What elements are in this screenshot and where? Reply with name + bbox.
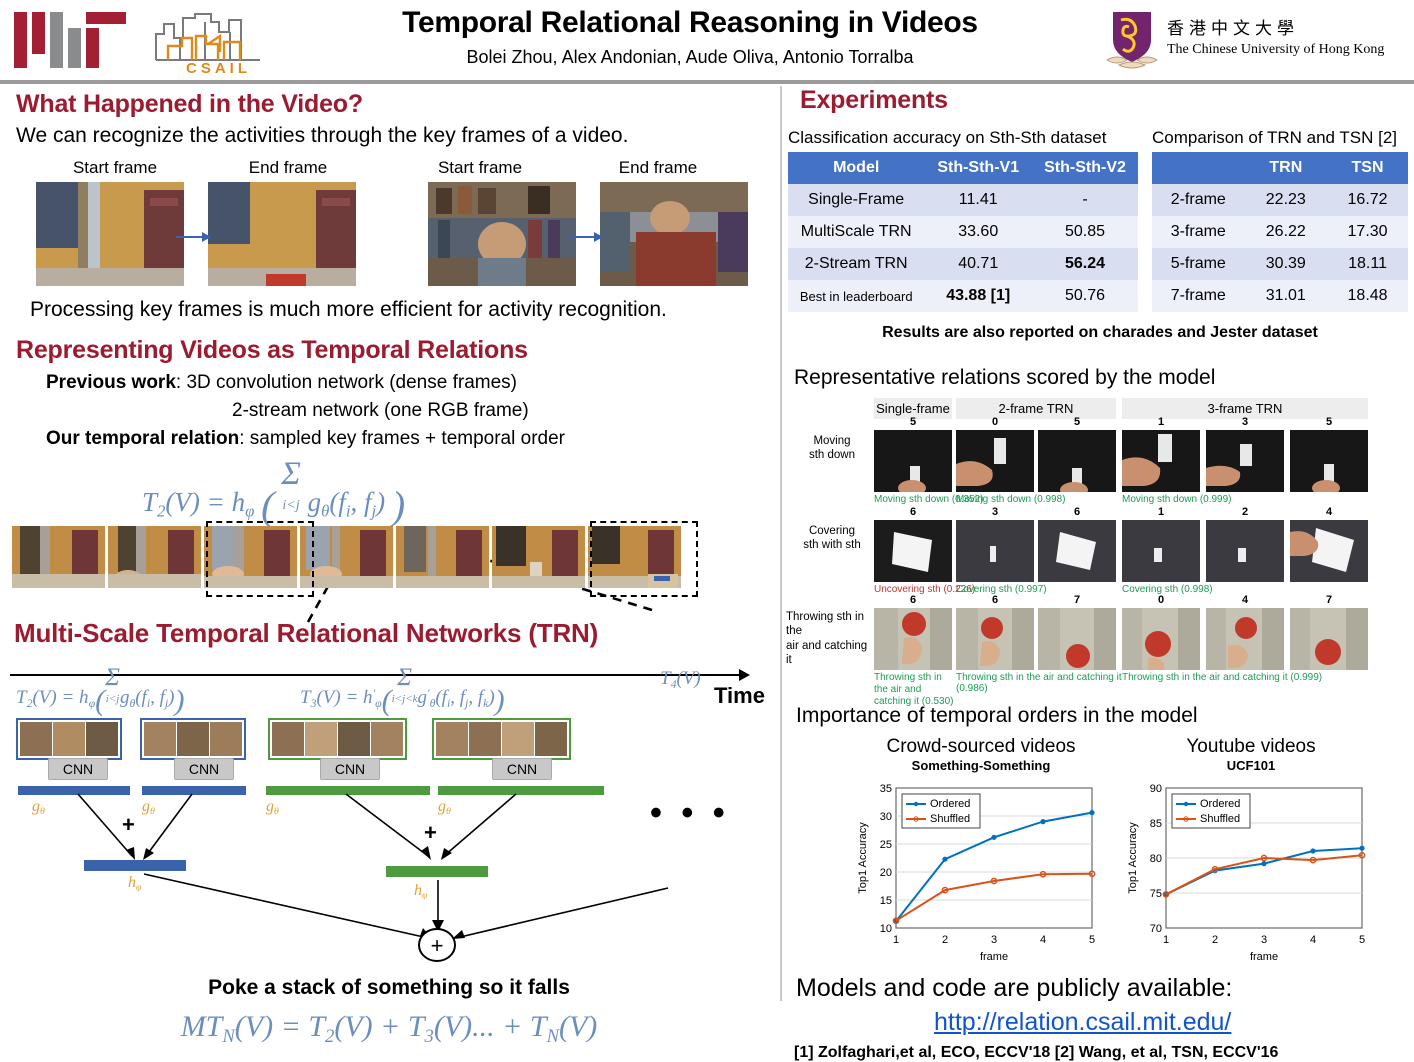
video-thumb-end-1: [208, 182, 356, 286]
chart2-legend-ordered: Ordered: [1200, 798, 1240, 810]
cell-frames: 2-frame: [1152, 184, 1245, 216]
svg-text:15: 15: [880, 895, 892, 907]
cell-v1: 11.41: [924, 184, 1032, 216]
cell-trn: 31.01: [1245, 280, 1328, 312]
relation-image: [956, 430, 1034, 492]
previous-work-text-b: 2-stream network (one RGB frame): [232, 400, 529, 422]
table-row: 3-frame 26.22 17.30: [1152, 216, 1408, 248]
aggregation-arrows: [16, 792, 636, 866]
poke-caption: Poke a stack of something so it falls: [0, 976, 778, 1000]
mit-logo: [14, 6, 134, 68]
chart2-ylabel: Top1 Accuracy: [1127, 822, 1139, 894]
svg-text:80: 80: [1150, 853, 1162, 865]
chart1-ylabel: Top1 Accuracy: [857, 822, 869, 894]
table1-caption: Classification accuracy on Sth-Sth datas…: [788, 128, 1106, 148]
frame-index: 3: [1206, 416, 1284, 428]
relation-image: [956, 608, 1034, 670]
timeline-label: Time: [714, 683, 765, 709]
relation-image: [1290, 520, 1368, 582]
chart2-xlabel: frame: [1250, 951, 1278, 963]
frame-label-end-1: End frame: [228, 158, 348, 178]
th-v1: Sth-Sth-V1: [924, 152, 1032, 184]
cnn-box-3: CNN: [320, 758, 380, 780]
relation-image: [874, 608, 952, 670]
models-available-line: Models and code are publicly available:: [796, 974, 1232, 1003]
chart-something-something[interactable]: 101520 253035 123 45 frame Top1 Accuracy…: [852, 780, 1110, 966]
ellipsis-dots: • • •: [650, 794, 730, 833]
th-v2: Sth-Sth-V2: [1032, 152, 1138, 184]
relation-image: [1038, 430, 1116, 492]
frame-index: 3: [956, 506, 1034, 518]
formula-t3: T3(V) = h′φ(Σi<j<kg′θ(fi, fj, fk)): [300, 664, 505, 718]
final-sum-arrows: [80, 868, 680, 958]
video-thumb-start-1: [36, 182, 184, 286]
relation-image: [874, 520, 952, 582]
frame-index: 6: [1038, 506, 1116, 518]
frame-index: 1: [1122, 506, 1200, 518]
frame-index: 5: [874, 416, 952, 428]
relation-row-label-2: Coveringsth with sth: [792, 524, 872, 553]
frame-group-green-1: [268, 718, 407, 760]
references-line: [1] Zolfaghari,et al, ECO, ECCV'18 [2] W…: [794, 1044, 1278, 1062]
our-relation-text: : sampled key frames + temporal order: [239, 428, 565, 449]
relation-image: [1206, 520, 1284, 582]
cell-model: 2-Stream TRN: [788, 248, 924, 280]
table-row: Single-Frame 11.41 -: [788, 184, 1138, 216]
chart2-legend-shuffled: Shuffled: [1200, 813, 1240, 825]
cell-v2: 56.24: [1032, 248, 1138, 280]
formula-t2-small: T2(V) = hφ(Σi<jgθ(fi, fj)): [16, 664, 185, 718]
section-what-happened-line: We can recognize the activities through …: [16, 124, 628, 148]
cell-v1: 43.88 [1]: [924, 280, 1032, 312]
title-block: Temporal Relational Reasoning in Videos …: [300, 6, 1080, 68]
table-row: 5-frame 30.39 18.11: [1152, 248, 1408, 280]
relation-row-label-1: Movingsth down: [792, 434, 872, 463]
table-row: 7-frame 31.01 18.48: [1152, 280, 1408, 312]
temporal-orders-title: Importance of temporal orders in the mod…: [796, 704, 1198, 728]
our-relation-label: Our temporal relation: [46, 428, 239, 449]
svg-text:35: 35: [880, 783, 892, 795]
relation-image: [1206, 430, 1284, 492]
relation-image: [1206, 608, 1284, 670]
chart2-title: Youtube videos: [1126, 736, 1376, 758]
formula-mtn: MTN(V) = T2(V) + T3(V)... + TN(V): [0, 1010, 778, 1048]
frame-index: 1: [1122, 416, 1200, 428]
cell-trn: 26.22: [1245, 216, 1328, 248]
relation-image: [1290, 430, 1368, 492]
left-column: What Happened in the Video? We can recog…: [0, 86, 778, 1001]
sum-node-icon: +: [410, 924, 464, 966]
cell-model: Single-Frame: [788, 184, 924, 216]
th-tsn: TSN: [1327, 152, 1408, 184]
svg-text:1: 1: [893, 934, 899, 946]
our-relation-line: Our temporal relation: sampled key frame…: [46, 428, 565, 450]
relation-caption: Throwing sth in the air and catching it …: [874, 672, 956, 708]
table-header-row: TRN TSN: [1152, 152, 1408, 184]
svg-text:4: 4: [1040, 934, 1046, 946]
poster-authors: Bolei Zhou, Alex Andonian, Aude Oliva, A…: [300, 47, 1080, 68]
transition-arrow-1: [176, 236, 210, 238]
chart1-subtitle: Something-Something: [856, 758, 1106, 773]
frame-index: 7: [1290, 594, 1368, 606]
cnn-box-2: CNN: [174, 758, 234, 780]
table2-caption: Comparison of TRN and TSN [2]: [1152, 128, 1397, 148]
th-model: Model: [788, 152, 924, 184]
svg-text:5: 5: [1089, 934, 1095, 946]
frame-index: 4: [1290, 506, 1368, 518]
svg-text:1: 1: [1163, 934, 1169, 946]
frame-label-start-2: Start frame: [420, 158, 540, 178]
filmstrip-frame-1: [12, 526, 105, 588]
chart2-subtitle: UCF101: [1126, 758, 1376, 773]
highlight-box-frame-3: [206, 521, 314, 597]
frame-index: 0: [956, 416, 1034, 428]
cell-trn: 30.39: [1245, 248, 1328, 280]
table-row: 2-Stream TRN 40.71 56.24: [788, 248, 1138, 280]
relation-caption: Moving sth down (0.998): [956, 494, 1121, 505]
poster-root: CSAIL Temporal Relational Reasoning in V…: [0, 0, 1414, 1001]
cuhk-name-en: The Chinese University of Hong Kong: [1167, 42, 1384, 58]
svg-text:25: 25: [880, 839, 892, 851]
relation-image: [1038, 608, 1116, 670]
cnn-box-4: CNN: [492, 758, 552, 780]
highlight-box-frame-6: [590, 521, 698, 597]
chart1-title: Crowd-sourced videos: [856, 736, 1106, 758]
filmstrip-frame-2: [108, 526, 201, 588]
cell-v1: 40.71: [924, 248, 1032, 280]
frame-group-green-2: [432, 718, 571, 760]
svg-text:85: 85: [1150, 818, 1162, 830]
section-experiments-title: Experiments: [800, 86, 948, 115]
svg-text:3: 3: [991, 934, 997, 946]
chart1-legend-ordered: Ordered: [930, 798, 970, 810]
cell-model: Best in leaderboard: [788, 280, 924, 312]
frame-index: 6: [956, 594, 1034, 606]
key-frames-caption: Processing key frames is much more effic…: [30, 298, 667, 322]
svg-text:2: 2: [1212, 934, 1218, 946]
right-column: Experiments Classification accuracy on S…: [786, 86, 1414, 1001]
poster-header: CSAIL Temporal Relational Reasoning in V…: [0, 0, 1414, 80]
svg-text:4: 4: [1310, 934, 1316, 946]
svg-text:75: 75: [1150, 888, 1162, 900]
video-filmstrip: [12, 526, 684, 593]
svg-text:3: 3: [1261, 934, 1267, 946]
cell-v2: 50.85: [1032, 216, 1138, 248]
frame-index: 2: [1206, 506, 1284, 518]
frame-label-start-1: Start frame: [55, 158, 175, 178]
svg-text:90: 90: [1150, 783, 1162, 795]
table-header-row: Model Sth-Sth-V1 Sth-Sth-V2: [788, 152, 1138, 184]
representative-relations-title: Representative relations scored by the m…: [794, 366, 1215, 390]
section-trn-title: Multi-Scale Temporal Relational Networks…: [14, 618, 598, 649]
relation-image: [1122, 520, 1200, 582]
chart1-legend-shuffled: Shuffled: [930, 813, 970, 825]
frame-index: 4: [1206, 594, 1284, 606]
cell-tsn: 18.11: [1327, 248, 1408, 280]
video-thumb-end-2: [600, 182, 748, 286]
relation-image: [956, 520, 1034, 582]
cell-frames: 3-frame: [1152, 216, 1245, 248]
header-divider: [0, 80, 1414, 84]
cell-trn: 22.23: [1245, 184, 1328, 216]
filmstrip-frame-6: [492, 526, 585, 588]
column-divider: [780, 86, 782, 1001]
relation-image: [1122, 430, 1200, 492]
svg-text:10: 10: [880, 923, 892, 935]
frame-index: 7: [1038, 594, 1116, 606]
table-row: MultiScale TRN 33.60 50.85: [788, 216, 1138, 248]
relation-caption: Throwing sth in the air and catching it …: [1122, 672, 1372, 683]
svg-text:5: 5: [1359, 934, 1365, 946]
chart-ucf101[interactable]: 707580 8590 123 45 frame Top1 Accuracy O…: [1122, 780, 1380, 966]
cell-tsn: 17.30: [1327, 216, 1408, 248]
previous-work-text-a: : 3D convolution network (dense frames): [176, 372, 517, 393]
frame-group-blue-2: [140, 718, 246, 760]
relation-row-label-3: Throwing sth in theair and catching it: [786, 610, 874, 668]
poster-title: Temporal Relational Reasoning in Videos: [300, 6, 1080, 39]
svg-text:30: 30: [880, 811, 892, 823]
svg-text:70: 70: [1150, 923, 1162, 935]
frame-index: 0: [1122, 594, 1200, 606]
cuhk-shield-icon: [1105, 10, 1159, 70]
relation-image: [1290, 608, 1368, 670]
relation-image: [1122, 608, 1200, 670]
project-url-link[interactable]: http://relation.csail.mit.edu/: [934, 1008, 1231, 1037]
cnn-box-1: CNN: [48, 758, 108, 780]
frame-index: 6: [874, 506, 952, 518]
frame-index: 5: [1290, 416, 1368, 428]
cell-tsn: 16.72: [1327, 184, 1408, 216]
cell-frames: 5-frame: [1152, 248, 1245, 280]
transition-arrow-2: [568, 236, 602, 238]
section-representing-title: Representing Videos as Temporal Relation…: [16, 336, 528, 365]
svg-text:+: +: [431, 933, 444, 958]
cuhk-logo-block: 香港中文大學 The Chinese University of Hong Ko…: [1105, 8, 1405, 74]
filmstrip-frame-5: [396, 526, 489, 588]
cell-v1: 33.60: [924, 216, 1032, 248]
chart1-xlabel: frame: [980, 951, 1008, 963]
th-trn: TRN: [1245, 152, 1328, 184]
table-row: 2-frame 22.23 16.72: [1152, 184, 1408, 216]
previous-work-label: Previous work: [46, 372, 176, 393]
previous-work-line: Previous work: 3D convolution network (d…: [46, 372, 517, 394]
csail-wordmark: CSAIL: [186, 60, 251, 77]
svg-text:20: 20: [880, 867, 892, 879]
relation-image: [874, 430, 952, 492]
section-what-happened-title: What Happened in the Video?: [16, 90, 363, 119]
cuhk-name-cn: 香港中文大學: [1167, 14, 1384, 39]
frame-index: 6: [874, 594, 952, 606]
cell-tsn: 18.48: [1327, 280, 1408, 312]
frame-index: 5: [1038, 416, 1116, 428]
cell-v2: 50.76: [1032, 280, 1138, 312]
frame-label-end-2: End frame: [598, 158, 718, 178]
svg-text:2: 2: [942, 934, 948, 946]
cell-v2: -: [1032, 184, 1138, 216]
relation-caption: Moving sth down (0.999): [1122, 494, 1352, 505]
cuhk-text: 香港中文大學 The Chinese University of Hong Ko…: [1167, 14, 1384, 58]
cell-model: MultiScale TRN: [788, 216, 924, 248]
table-row: Best in leaderboard 43.88 [1] 50.76: [788, 280, 1138, 312]
th-blank: [1152, 152, 1245, 184]
classification-accuracy-table: Model Sth-Sth-V1 Sth-Sth-V2 Single-Frame…: [788, 152, 1138, 312]
trn-tsn-comparison-table: TRN TSN 2-frame 22.23 16.72 3-frame 26.2…: [1152, 152, 1408, 312]
frame-group-blue-1: [16, 718, 122, 760]
cell-frames: 7-frame: [1152, 280, 1245, 312]
formula-t4: T4(V): [660, 668, 701, 692]
results-note: Results are also reported on charades an…: [786, 324, 1414, 342]
relation-image: [1038, 520, 1116, 582]
video-thumb-start-2: [428, 182, 576, 286]
